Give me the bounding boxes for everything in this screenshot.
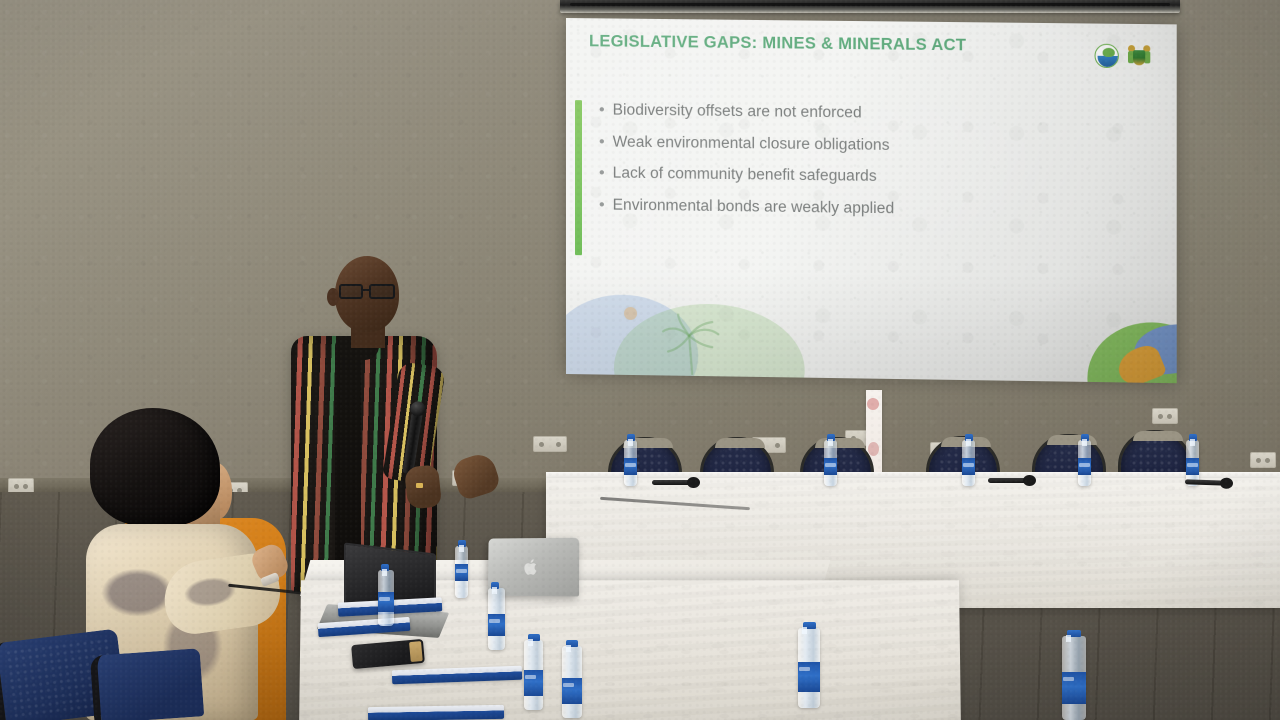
- bullet-text: Environmental bonds are weakly applied: [613, 197, 895, 216]
- bottle-neck: [966, 439, 971, 446]
- slide-deco-sun-icon: [624, 307, 637, 320]
- glasses-lens-right: [369, 284, 395, 299]
- water-bottle: [455, 546, 468, 598]
- bullet-marker-icon: •: [599, 134, 605, 150]
- slide-bullet-item: • Lack of community benefit safeguards: [599, 165, 1123, 188]
- name-plate: [368, 705, 504, 720]
- water-bottle: [1062, 636, 1086, 720]
- bottle-label: [1186, 458, 1199, 475]
- bottle-label: [455, 564, 468, 581]
- bottle-neck: [459, 545, 464, 552]
- water-bottle: [962, 440, 975, 486]
- bottle-label: [378, 592, 394, 612]
- chair-back-gap: [1133, 431, 1183, 441]
- audience-chair: [90, 648, 204, 720]
- bullet-text: Lack of community benefit safeguards: [613, 166, 877, 185]
- projection-screen-roller: [560, 0, 1180, 13]
- bottle-neck: [528, 639, 533, 646]
- glasses-lens-left: [339, 284, 363, 299]
- bullet-marker-icon: •: [599, 197, 605, 213]
- slide-bullet-item: • Environmental bonds are weakly applied: [599, 197, 1123, 220]
- presenter-right-hand: [404, 464, 442, 509]
- presenter-glasses-icon: [339, 284, 401, 299]
- apple-logo-icon: [523, 558, 539, 576]
- attendee-hair: [90, 408, 220, 526]
- bottle-label: [798, 662, 820, 692]
- bullet-text: Biodiversity offsets are not enforced: [613, 103, 862, 121]
- chair-back-gap: [715, 438, 765, 448]
- presentation-slide: LEGISLATIVE GAPS: MINES & MINERALS ACT •…: [566, 18, 1177, 383]
- bottle-neck: [492, 587, 497, 594]
- bottle-neck: [566, 645, 571, 652]
- bottle-label: [824, 458, 837, 475]
- bottle-neck: [1066, 635, 1071, 642]
- bottle-neck: [382, 569, 387, 576]
- presenter-ring: [416, 483, 423, 488]
- power-socket: [1250, 452, 1276, 468]
- desk-microphone: [652, 480, 694, 485]
- bottle-neck: [1190, 439, 1195, 446]
- slide-bullet-list: • Biodiversity offsets are not enforced …: [599, 102, 1123, 235]
- bullet-marker-icon: •: [599, 165, 605, 181]
- presenter-ear: [327, 288, 339, 306]
- bottle-label: [1078, 458, 1091, 475]
- desk-microphone: [988, 478, 1030, 483]
- water-bottle: [624, 440, 637, 486]
- slide-deco-corner-motif: [1075, 311, 1176, 383]
- bottle-neck: [828, 439, 833, 446]
- slide-accent-bar: [575, 100, 582, 255]
- water-bottle: [798, 628, 820, 708]
- bottle-neck: [628, 439, 633, 446]
- slide-bullet-item: • Weak environmental closure obligations: [599, 134, 1123, 156]
- arms-shield: [1133, 50, 1145, 65]
- bottle-label: [962, 458, 975, 475]
- water-bottle: [824, 440, 837, 486]
- bottle-label: [524, 670, 543, 696]
- environment-agency-emblem-icon: [1095, 44, 1119, 68]
- water-bottle: [378, 570, 394, 626]
- presentation-room-scene: LEGISLATIVE GAPS: MINES & MINERALS ACT •…: [0, 0, 1280, 720]
- presenter-left-hand: [450, 450, 502, 501]
- bottle-neck: [1082, 439, 1087, 446]
- presenter-speaking: [283, 252, 518, 592]
- bottle-label: [624, 458, 637, 475]
- power-socket: [1152, 408, 1178, 424]
- water-bottle: [488, 588, 505, 650]
- bottle-neck: [802, 627, 807, 634]
- national-coat-of-arms-icon: [1128, 44, 1150, 68]
- bottle-label: [488, 614, 505, 636]
- power-socket: [533, 436, 567, 452]
- bullet-text: Weak environmental closure obligations: [613, 134, 890, 153]
- slide-logo-group: [1095, 44, 1151, 69]
- water-bottle: [524, 640, 543, 710]
- water-bottle: [1078, 440, 1091, 486]
- bottle-label: [562, 678, 582, 704]
- bullet-marker-icon: •: [599, 102, 605, 118]
- chair-back-gap: [815, 438, 865, 448]
- water-bottle: [562, 646, 582, 718]
- slide-deco-palm-tree-icon: [658, 313, 728, 376]
- bottle-label: [1062, 672, 1086, 704]
